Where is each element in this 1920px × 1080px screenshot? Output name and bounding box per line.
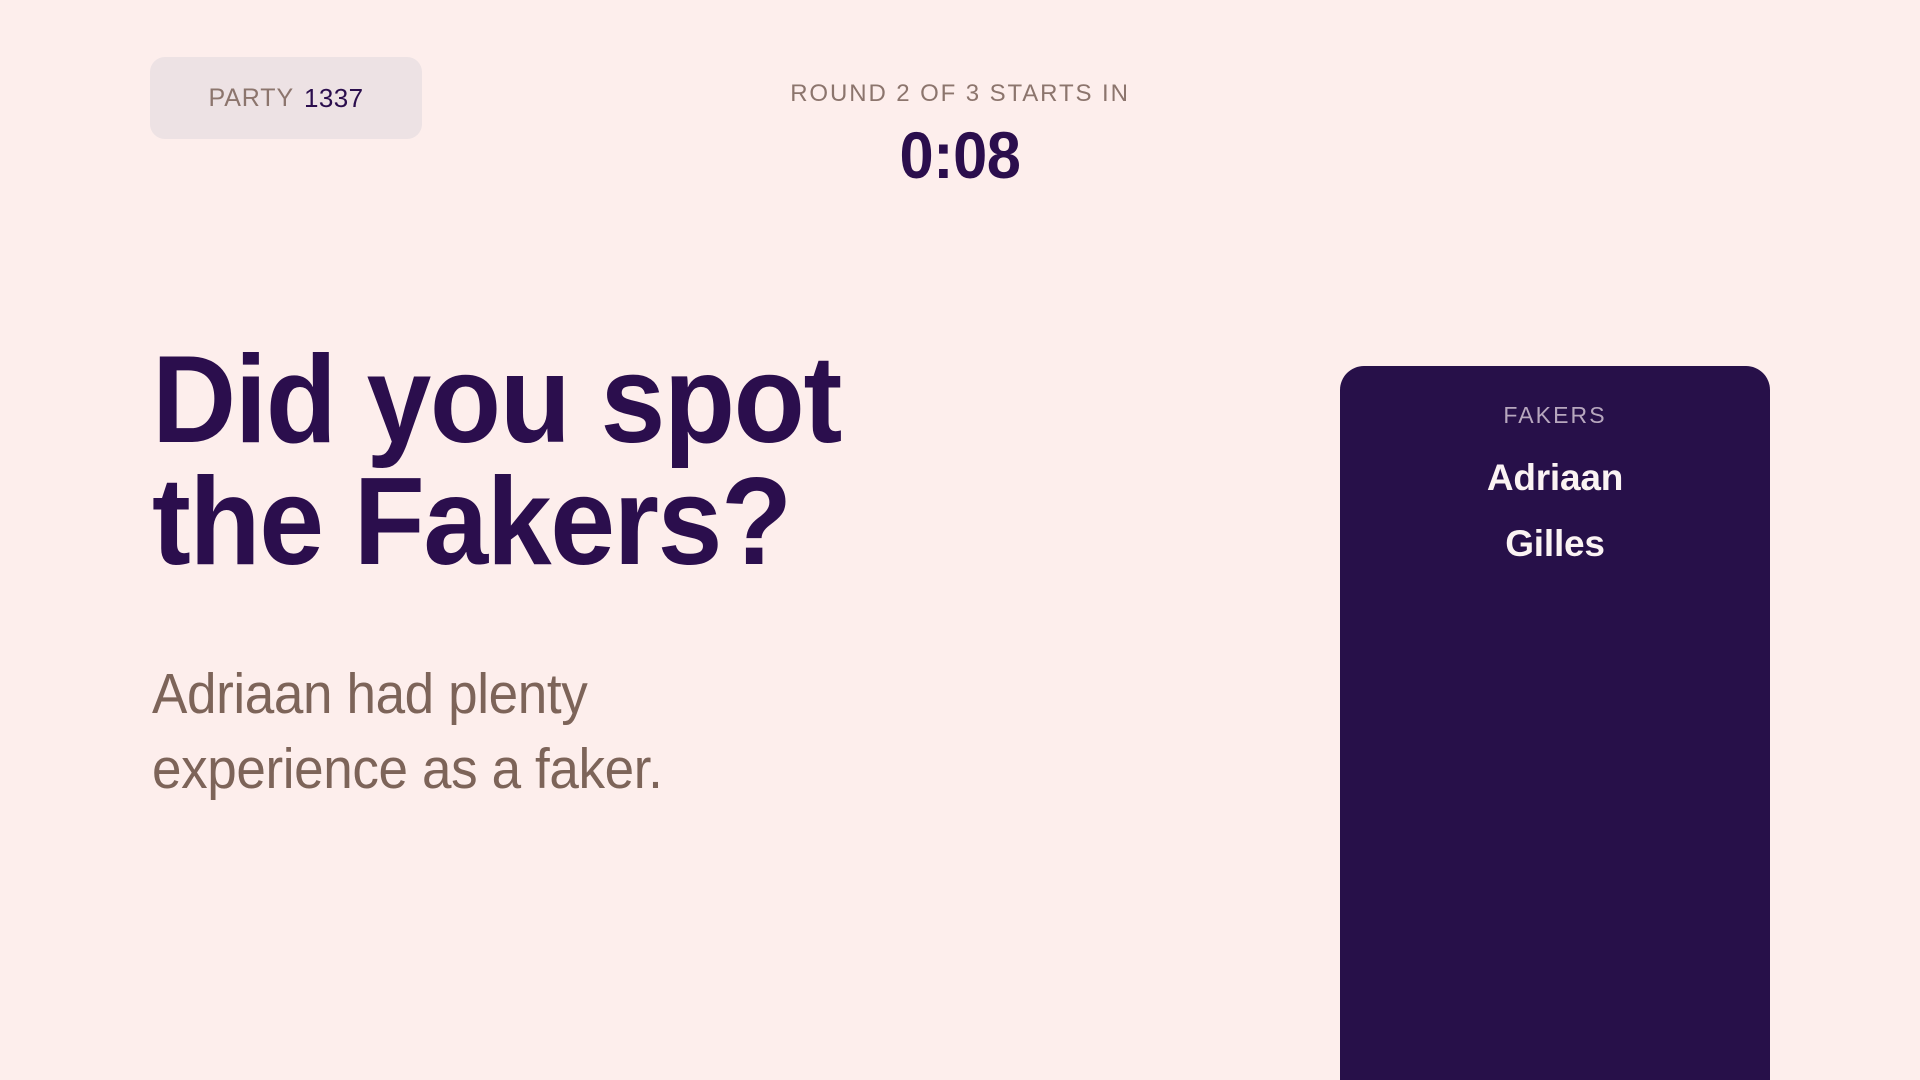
countdown-timer: 0:08 — [681, 121, 1239, 190]
round-status: ROUND 2 OF 3 STARTS IN 0:08 — [660, 80, 1260, 190]
fakers-panel-title: FAKERS — [1503, 402, 1606, 429]
party-code-badge[interactable]: PARTY 1337 — [150, 57, 422, 139]
fakers-name-list: Adriaan Gilles — [1340, 455, 1770, 568]
page-title: Did you spot the Fakers? — [152, 340, 1139, 583]
fakers-panel: FAKERS Adriaan Gilles — [1340, 366, 1770, 1080]
page-subtitle: Adriaan had plenty experience as a faker… — [152, 657, 822, 807]
party-code-value: 1337 — [304, 83, 363, 114]
list-item: Gilles — [1505, 521, 1605, 567]
list-item: Adriaan — [1487, 455, 1623, 501]
main-content: Did you spot the Fakers? Adriaan had ple… — [152, 340, 1202, 808]
game-screen: PARTY 1337 ROUND 2 OF 3 STARTS IN 0:08 D… — [0, 0, 1920, 1080]
round-label: ROUND 2 OF 3 STARTS IN — [660, 80, 1260, 109]
party-label: PARTY — [209, 84, 295, 113]
